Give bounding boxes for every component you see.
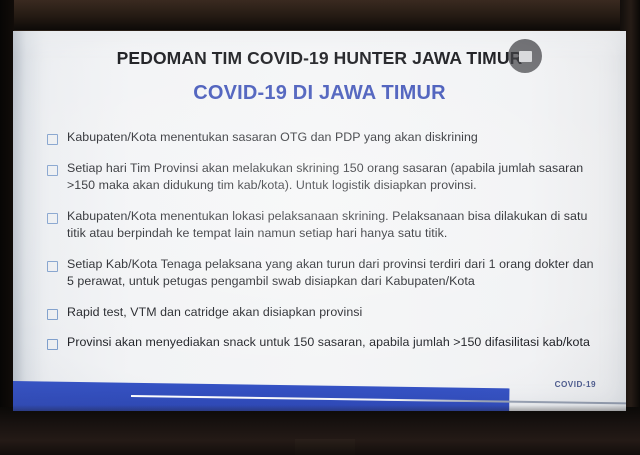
list-item-text: Kabupaten/Kota menentukan sasaran OTG da… <box>67 129 603 147</box>
footer-blue-bar <box>13 381 509 411</box>
monitor-photo-frame: PEDOMAN TIM COVID-19 HUNTER JAWA TIMUR C… <box>0 0 640 455</box>
list-item: Setiap hari Tim Provinsi akan melakukan … <box>47 160 603 195</box>
hollow-square-bullet-icon <box>47 261 58 272</box>
hollow-square-bullet-icon <box>47 165 58 176</box>
list-item: Provinsi akan menyediakan snack untuk 15… <box>47 334 603 352</box>
hollow-square-bullet-icon <box>47 134 58 145</box>
footer-rule-line <box>131 395 626 404</box>
list-item-text: Setiap Kab/Kota Tenaga pelaksana yang ak… <box>67 256 603 291</box>
badge-glyph <box>519 51 532 62</box>
list-item-text: Setiap hari Tim Provinsi akan melakukan … <box>67 160 603 195</box>
video-overlay-badge-icon <box>508 39 542 73</box>
hollow-square-bullet-icon <box>47 309 58 320</box>
slide-subtitle: COVID-19 DI JAWA TIMUR <box>13 82 626 105</box>
hollow-square-bullet-icon <box>47 339 58 350</box>
list-item: Rapid test, VTM dan catridge akan disiap… <box>47 304 603 322</box>
slide-footer: COVID-19 <box>13 357 626 411</box>
monitor-bezel-top <box>0 0 640 30</box>
monitor-stand <box>295 439 355 455</box>
list-item: Setiap Kab/Kota Tenaga pelaksana yang ak… <box>47 256 603 291</box>
screen-bottom-shadow <box>13 405 626 411</box>
presentation-slide: PEDOMAN TIM COVID-19 HUNTER JAWA TIMUR C… <box>13 31 626 411</box>
list-item-text: Rapid test, VTM dan catridge akan disiap… <box>67 304 603 322</box>
list-item: Kabupaten/Kota menentukan lokasi pelaksa… <box>47 208 603 243</box>
monitor-bezel-left <box>0 0 14 455</box>
list-item-text: Kabupaten/Kota menentukan lokasi pelaksa… <box>67 208 603 243</box>
hollow-square-bullet-icon <box>47 213 58 224</box>
bullet-list: Kabupaten/Kota menentukan sasaran OTG da… <box>47 129 603 365</box>
footer-label: COVID-19 <box>555 380 596 389</box>
list-item-text: Provinsi akan menyediakan snack untuk 15… <box>67 334 603 352</box>
list-item: Kabupaten/Kota menentukan sasaran OTG da… <box>47 129 603 147</box>
